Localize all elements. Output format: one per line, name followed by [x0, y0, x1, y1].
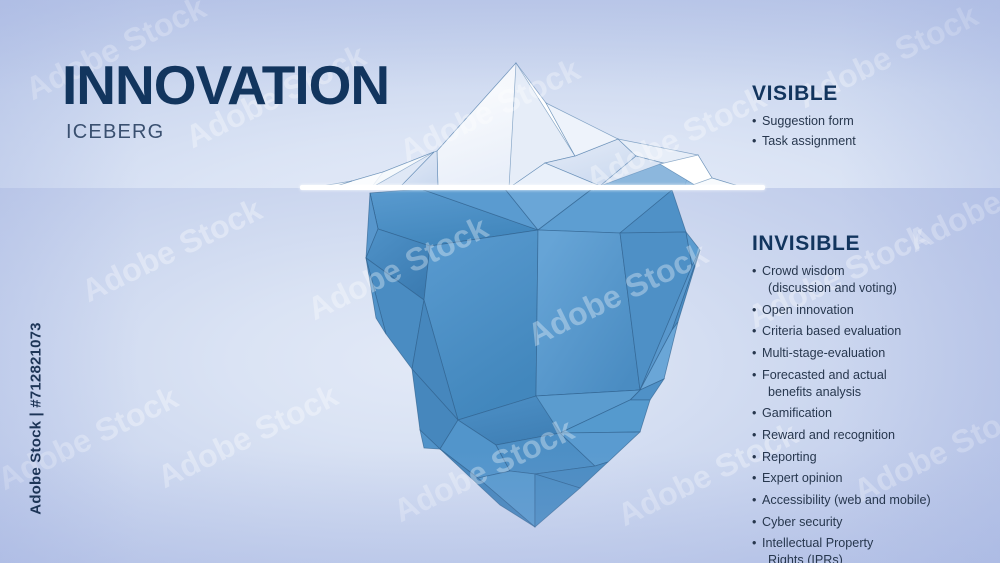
bullet-icon: •	[752, 367, 756, 384]
bullet-icon: •	[752, 514, 756, 531]
bullet-icon: •	[752, 263, 756, 280]
list-item-label: Cyber security	[762, 515, 842, 529]
list-item-label-cont: benefits analysis	[762, 384, 1000, 401]
list-item: •Expert opinion	[752, 470, 1000, 487]
list-item: •Accessibility (web and mobile)	[752, 492, 1000, 509]
list-item: •Suggestion form	[752, 113, 992, 130]
list-item-label: Expert opinion	[762, 471, 843, 485]
list-item: •Reward and recognition	[752, 427, 1000, 444]
visible-heading: VISIBLE	[752, 82, 992, 106]
bullet-icon: •	[752, 405, 756, 422]
list-item-label: Intellectual Property	[762, 536, 873, 550]
bullet-icon: •	[752, 427, 756, 444]
list-item-label: Suggestion form	[762, 114, 854, 128]
list-item-label: Task assignment	[762, 134, 856, 148]
invisible-heading: INVISIBLE	[752, 232, 1000, 256]
infographic-canvas: Adobe Stock Adobe Stock Adobe Stock Adob…	[0, 0, 1000, 563]
list-item-label: Multi-stage-evaluation	[762, 346, 885, 360]
list-item-label: Reporting	[762, 450, 817, 464]
invisible-panel: INVISIBLE •Crowd wisdom (discussion and …	[752, 232, 1000, 563]
list-item-label-cont: (discussion and voting)	[762, 280, 1000, 297]
bullet-icon: •	[752, 470, 756, 487]
list-item-label: Criteria based evaluation	[762, 324, 901, 338]
visible-panel: VISIBLE •Suggestion form •Task assignmen…	[752, 82, 992, 152]
list-item: •Forecasted and actual benefits analysis	[752, 367, 1000, 401]
list-item: •Crowd wisdom (discussion and voting)	[752, 263, 1000, 297]
list-item-label: Open innovation	[762, 303, 854, 317]
list-item: •Intellectual Property Rights (IPRs)	[752, 535, 1000, 563]
bullet-icon: •	[752, 535, 756, 552]
list-item-label-cont: Rights (IPRs)	[762, 552, 1000, 563]
bullet-icon: •	[752, 133, 756, 150]
bullet-icon: •	[752, 302, 756, 319]
list-item-label: Reward and recognition	[762, 428, 895, 442]
list-item: •Cyber security	[752, 514, 1000, 531]
list-item-label: Crowd wisdom	[762, 264, 845, 278]
list-item: •Open innovation	[752, 302, 1000, 319]
bullet-icon: •	[752, 345, 756, 362]
title-block: INNOVATION ICEBERG	[62, 58, 389, 144]
bullet-icon: •	[752, 449, 756, 466]
list-item-label: Forecasted and actual	[762, 368, 887, 382]
bullet-icon: •	[752, 113, 756, 130]
list-item: •Task assignment	[752, 133, 992, 150]
invisible-list: •Crowd wisdom (discussion and voting) •O…	[752, 263, 1000, 563]
page-subtitle: ICEBERG	[66, 121, 389, 144]
list-item-label: Accessibility (web and mobile)	[762, 493, 931, 507]
bullet-icon: •	[752, 492, 756, 509]
list-item: •Reporting	[752, 449, 1000, 466]
list-item: •Criteria based evaluation	[752, 323, 1000, 340]
list-item: •Multi-stage-evaluation	[752, 345, 1000, 362]
waterline	[300, 185, 765, 190]
bullet-icon: •	[752, 323, 756, 340]
stock-credit-watermark: Adobe Stock | #712821073	[28, 304, 45, 534]
visible-list: •Suggestion form •Task assignment	[752, 113, 992, 150]
page-title: INNOVATION	[62, 58, 389, 113]
list-item-label: Gamification	[762, 406, 832, 420]
list-item: •Gamification	[752, 405, 1000, 422]
